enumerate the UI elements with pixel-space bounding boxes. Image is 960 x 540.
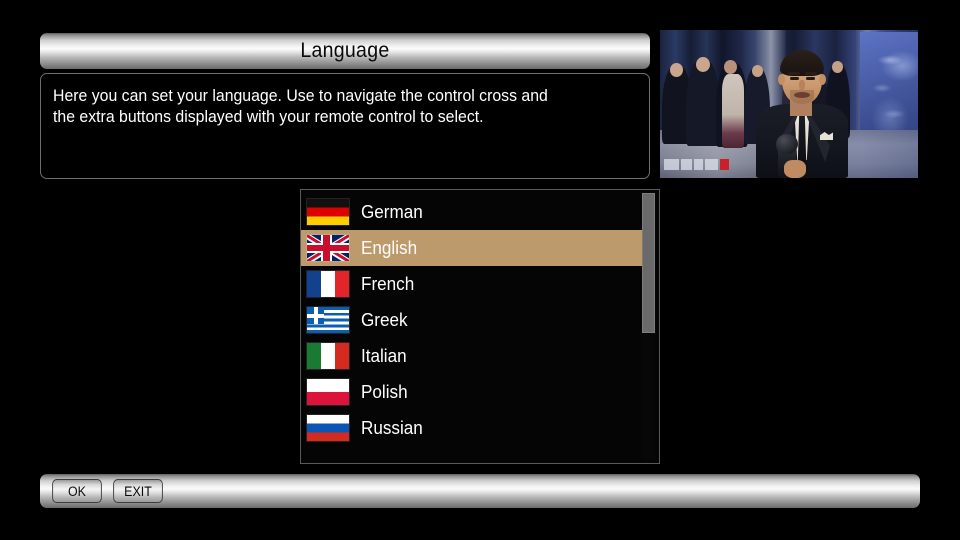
flag-united-kingdom-icon xyxy=(307,235,349,261)
list-item[interactable]: Polish xyxy=(301,374,646,410)
list-item-label: Greek xyxy=(361,310,408,331)
list-item-label: Russian xyxy=(361,418,423,439)
flag-france-icon xyxy=(307,271,349,297)
ok-button[interactable]: OK xyxy=(52,479,102,503)
language-list: German English xyxy=(301,194,646,446)
exit-button[interactable]: EXIT xyxy=(113,479,163,503)
scrollbar-thumb[interactable] xyxy=(642,193,655,333)
preview-reporter-hand xyxy=(784,160,806,178)
list-item[interactable]: English xyxy=(301,230,646,266)
footer-bar: OK EXIT xyxy=(40,474,920,508)
list-item[interactable]: Greek xyxy=(301,302,646,338)
preview-reporter-mouth xyxy=(794,92,810,98)
preview-reporter-eyebrow xyxy=(805,72,817,75)
language-list-box[interactable]: German English xyxy=(300,189,660,464)
flag-germany-icon xyxy=(307,199,349,225)
page-title: Language xyxy=(300,39,389,63)
language-list-scrollbar[interactable] xyxy=(642,193,655,459)
preview-reporter-ear xyxy=(778,74,785,85)
flag-russia-icon xyxy=(307,415,349,441)
flag-italy-icon xyxy=(307,343,349,369)
preview-reporter-eyebrow xyxy=(788,72,800,75)
list-item-label: Polish xyxy=(361,382,408,403)
preview-crowd-head xyxy=(752,65,763,77)
preview-crowd-figure xyxy=(722,74,744,148)
microphone-icon xyxy=(776,134,798,154)
flag-poland-icon xyxy=(307,379,349,405)
preview-crowd-figure xyxy=(686,60,720,146)
description-text: Here you can set your language. Use to n… xyxy=(53,86,612,128)
flag-greece-icon xyxy=(307,307,349,333)
page-title-bar: Language xyxy=(40,33,650,69)
preview-crowd-head xyxy=(696,57,710,72)
preview-reporter-ear xyxy=(819,74,826,85)
list-item[interactable]: German xyxy=(301,194,646,230)
preview-crowd-head xyxy=(724,60,737,74)
list-item[interactable]: Russian xyxy=(301,410,646,446)
list-item-label: German xyxy=(361,202,423,223)
list-item[interactable]: French xyxy=(301,266,646,302)
list-item[interactable]: Italian xyxy=(301,338,646,374)
list-item-label: Italian xyxy=(361,346,407,367)
preview-reporter-nose xyxy=(799,80,805,90)
preview-reporter-eye xyxy=(806,77,815,80)
channel-logo-text: NEWS xyxy=(664,158,734,171)
preview-reporter-eye xyxy=(790,77,799,80)
tv-osd-screen: Language Here you can set your language.… xyxy=(0,0,960,540)
live-tv-preview[interactable]: NEWS xyxy=(660,30,918,178)
preview-crowd-head xyxy=(670,63,683,77)
preview-crowd-head xyxy=(832,61,843,73)
list-item-label: English xyxy=(361,238,417,259)
description-panel: Here you can set your language. Use to n… xyxy=(40,73,650,179)
list-item-label: French xyxy=(361,274,414,295)
